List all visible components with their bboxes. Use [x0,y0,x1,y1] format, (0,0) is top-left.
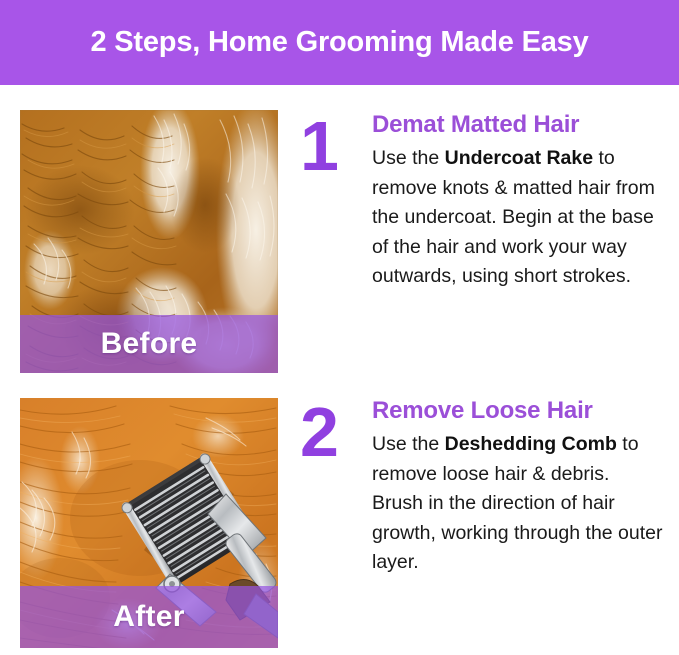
step-1-body: Demat Matted Hair Use the Undercoat Rake… [372,112,665,292]
step-1-number: 1 [300,114,362,178]
photo-block-after: After [20,398,278,648]
photo-label-after: After [20,586,278,648]
page-title: 2 Steps, Home Grooming Made Easy [90,26,588,59]
photo-block-before: Before [20,110,278,373]
photo-label-after-text: After [113,600,185,634]
step-2-text: Use the Deshedding Comb to remove loose … [372,430,665,578]
header-banner: 2 Steps, Home Grooming Made Easy [0,0,679,85]
photo-label-before-text: Before [101,327,198,361]
step-2-heading: Remove Loose Hair [372,398,665,425]
step-2-number: 2 [300,400,362,464]
step-2: 2 Remove Loose Hair Use the Deshedding C… [300,398,665,578]
step-1-heading: Demat Matted Hair [372,112,665,139]
step-2-body: Remove Loose Hair Use the Deshedding Com… [372,398,665,578]
step-1: 1 Demat Matted Hair Use the Undercoat Ra… [300,112,665,292]
step-1-text: Use the Undercoat Rake to remove knots &… [372,144,665,292]
photo-label-before: Before [20,315,278,373]
